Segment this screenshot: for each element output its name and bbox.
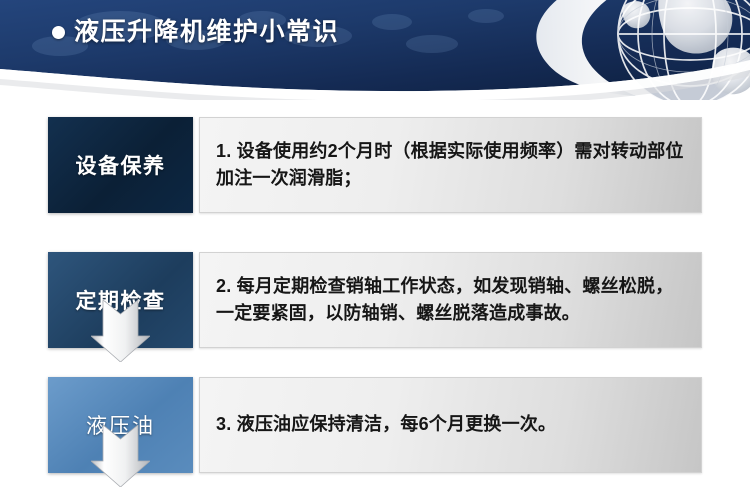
slide-canvas: 液压升降机维护小常识 设备保养 1. 设备使用约2个月时（根据实际使用频率）需对… xyxy=(0,0,750,495)
banner-background xyxy=(0,0,750,100)
page-title: 液压升降机维护小常识 xyxy=(52,19,339,47)
connector-arrow-1 xyxy=(91,300,150,362)
stage-description-panel-2: 2. 每月定期检查销轴工作状态，如发现销轴、螺丝松脱，一定要紧固，以防轴销、螺丝… xyxy=(199,252,702,348)
stage-description-panel-3: 3. 液压油应保持清洁，每6个月更换一次。 xyxy=(199,377,702,473)
stage-description-panel-1: 1. 设备使用约2个月时（根据实际使用频率）需对转动部位加注一次润滑脂； xyxy=(199,117,702,213)
bullet-dot-icon xyxy=(52,26,65,39)
stage-description-text: 2. 每月定期检查销轴工作状态，如发现销轴、螺丝松脱，一定要紧固，以防轴销、螺丝… xyxy=(216,273,687,328)
flow-row-1: 设备保养 1. 设备使用约2个月时（根据实际使用频率）需对转动部位加注一次润滑脂… xyxy=(0,117,750,213)
page-title-text: 液压升降机维护小常识 xyxy=(74,19,339,47)
content-area: 设备保养 1. 设备使用约2个月时（根据实际使用频率）需对转动部位加注一次润滑脂… xyxy=(0,100,750,495)
down-arrow-icon xyxy=(91,425,150,487)
down-arrow-icon xyxy=(91,300,150,362)
stage-label-text: 设备保养 xyxy=(76,150,166,180)
header-banner: 液压升降机维护小常识 xyxy=(0,0,750,100)
stage-description-text: 1. 设备使用约2个月时（根据实际使用频率）需对转动部位加注一次润滑脂； xyxy=(216,138,687,193)
connector-arrow-2 xyxy=(91,425,150,487)
stage-description-text: 3. 液压油应保持清洁，每6个月更换一次。 xyxy=(216,411,556,438)
stage-label-equipment-maintenance[interactable]: 设备保养 xyxy=(48,117,193,213)
